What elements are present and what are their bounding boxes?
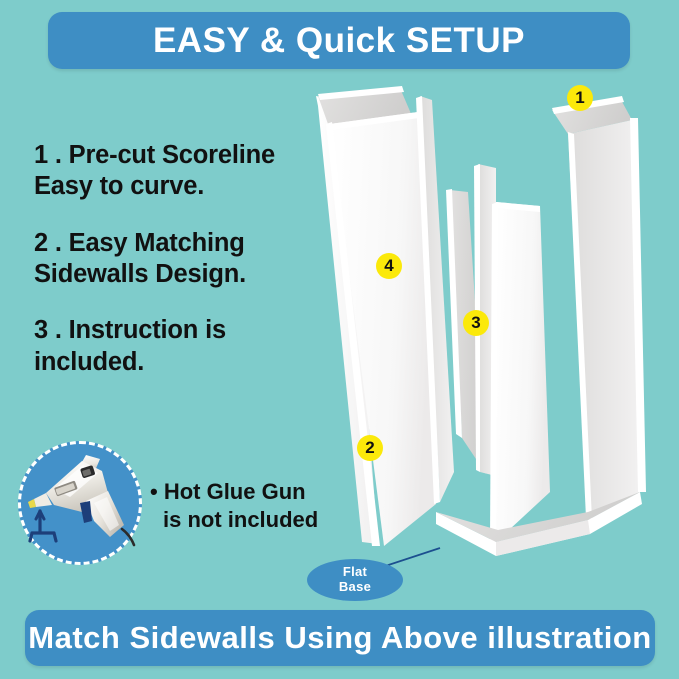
flat-base-callout: Flat Base (307, 559, 403, 601)
feature-item-3-line2: included. (34, 347, 334, 378)
feature-item-3-line1: 3 . Instruction is (34, 316, 226, 344)
glue-gun-note: • Hot Glue Gun is not included (18, 441, 338, 569)
panel-badge-2: 2 (357, 435, 383, 461)
flat-base-callout-line2: Base (339, 580, 371, 595)
panel-badge-3: 3 (463, 310, 489, 336)
hot-glue-gun-icon (24, 449, 136, 557)
panel-badge-4: 4 (376, 253, 402, 279)
foam-board-panels-svg (300, 72, 679, 572)
footer-banner: Match Sidewalls Using Above illustration (25, 610, 655, 666)
feature-item-2-line2: Sidewalls Design. (34, 259, 334, 290)
feature-list: 1 . Pre-cut Scoreline Easy to curve. 2 .… (34, 140, 334, 403)
foam-board-illustration (300, 72, 679, 572)
feature-item-1-line2: Easy to curve. (34, 171, 334, 202)
flat-base-callout-line1: Flat (343, 565, 367, 580)
infographic-canvas: EASY & Quick SETUP 1 . Pre-cut Scoreline… (0, 0, 679, 679)
feature-item-1: 1 . Pre-cut Scoreline Easy to curve. (34, 140, 334, 203)
panel-badge-1: 1 (567, 85, 593, 111)
feature-item-3: 3 . Instruction is included. (34, 315, 334, 378)
feature-item-1-line1: 1 . Pre-cut Scoreline (34, 141, 275, 169)
feature-item-2-line1: 2 . Easy Matching (34, 229, 245, 257)
glue-gun-note-line1: • Hot Glue Gun (150, 479, 306, 504)
header-banner: EASY & Quick SETUP (48, 12, 630, 69)
feature-item-2: 2 . Easy Matching Sidewalls Design. (34, 228, 334, 291)
